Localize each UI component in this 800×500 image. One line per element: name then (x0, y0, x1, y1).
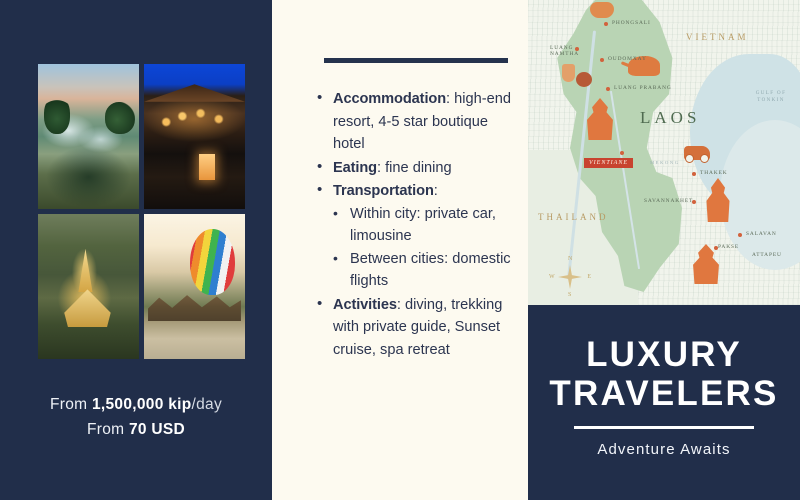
services-panel: Accommodation: high-end resort, 4-5 star… (272, 0, 528, 500)
price-kip-prefix: From (50, 396, 92, 413)
title-line-two: TRAVELERS (528, 374, 800, 413)
teapot-icon (590, 2, 614, 18)
transportation-sub-list: Within city: private car, limousine Betw… (333, 203, 516, 293)
laos-map: PHONGSALI LUANG NAMTHA OUDOMXAY LUANG PR… (528, 0, 800, 305)
title-line-one: LUXURY (528, 335, 800, 374)
map-label-laos: LAOS (640, 108, 700, 128)
services-list: Accommodation: high-end resort, 4-5 star… (316, 88, 516, 362)
compass-rose: N S E W (550, 257, 590, 297)
compass-south-label: S (568, 292, 571, 298)
dot-salavan (738, 233, 742, 237)
list-item-accommodation: Accommodation: high-end resort, 4-5 star… (316, 88, 516, 156)
price-line-kip: From 1,500,000 kip/day (0, 392, 272, 417)
dot-phongsali (604, 22, 608, 26)
transportation-label: Transportation (333, 183, 434, 199)
compass-star-icon (558, 265, 582, 289)
map-label-thailand: THAILAND (538, 212, 609, 222)
page-title: LUXURY TRAVELERS (528, 305, 800, 413)
transportation-separator: : (434, 183, 438, 199)
dot-vientiane (620, 151, 624, 155)
price-kip-suffix: /day (192, 396, 223, 413)
map-label-pakse: PAKSE (718, 244, 739, 250)
map-label-mekong: MEKONG (650, 160, 680, 165)
map-label-gulf-of-tonkin: GULF OF TONKIN (754, 90, 788, 104)
left-photo-panel: From 1,500,000 kip/day From 70 USD (0, 0, 272, 500)
map-label-luang-namtha: LUANG NAMTHA (550, 45, 580, 57)
drum-icon (576, 72, 592, 87)
map-label-thakek: THAKEK (700, 170, 728, 176)
map-label-oudomxay: OUDOMXAY (608, 56, 647, 62)
drink-cup-icon (562, 64, 575, 82)
accent-rule (324, 58, 508, 63)
price-usd-prefix: From (87, 421, 129, 438)
price-line-usd: From 70 USD (0, 417, 272, 442)
accommodation-label: Accommodation (333, 91, 446, 107)
title-block: LUXURY TRAVELERS Adventure Awaits (528, 305, 800, 500)
price-block: From 1,500,000 kip/day From 70 USD (0, 392, 272, 442)
list-item-activities: Activities: diving, trekking with privat… (316, 294, 516, 362)
map-label-salavan: SALAVAN (746, 231, 777, 237)
title-divider (574, 426, 754, 429)
riverside-restaurant-photo (144, 64, 245, 209)
activities-label: Activities (333, 297, 397, 313)
list-item-transportation: Transportation: Within city: private car… (316, 180, 516, 293)
map-label-vientiane: VIENTIANE (584, 158, 633, 168)
map-label-savannakhet: SAVANNAKHET (644, 198, 693, 204)
compass-north-label: N (568, 256, 572, 262)
dot-luang-prabang (606, 87, 610, 91)
map-label-luang-prabang: LUANG PRABANG (614, 85, 672, 91)
page-subtitle: Adventure Awaits (528, 441, 800, 458)
right-column: PHONGSALI LUANG NAMTHA OUDOMXAY LUANG PR… (528, 0, 800, 500)
golden-temple-photo (38, 214, 139, 359)
map-label-vietnam: VIETNAM (686, 32, 749, 42)
hot-air-balloon-photo (144, 214, 245, 359)
price-usd-amount: 70 USD (129, 421, 185, 438)
dot-thakek (692, 172, 696, 176)
tuktuk-icon (684, 146, 710, 160)
eating-label: Eating (333, 160, 377, 176)
price-kip-amount: 1,500,000 kip (92, 396, 192, 413)
list-item-eating: Eating: fine dining (316, 157, 516, 180)
map-label-attapeu: ATTAPEU (752, 252, 782, 258)
brochure-page: From 1,500,000 kip/day From 70 USD Accom… (0, 0, 800, 500)
eating-text: fine dining (381, 160, 452, 176)
map-label-phongsali: PHONGSALI (612, 20, 651, 26)
compass-west-label: W (549, 274, 555, 280)
waterfall-photo (38, 64, 139, 209)
dot-oudomxay (600, 58, 604, 62)
sub-list-item-between-cities: Between cities: domestic flights (333, 248, 516, 293)
compass-east-label: E (587, 274, 591, 280)
sub-list-item-within-city: Within city: private car, limousine (333, 203, 516, 248)
photo-grid (38, 64, 245, 359)
